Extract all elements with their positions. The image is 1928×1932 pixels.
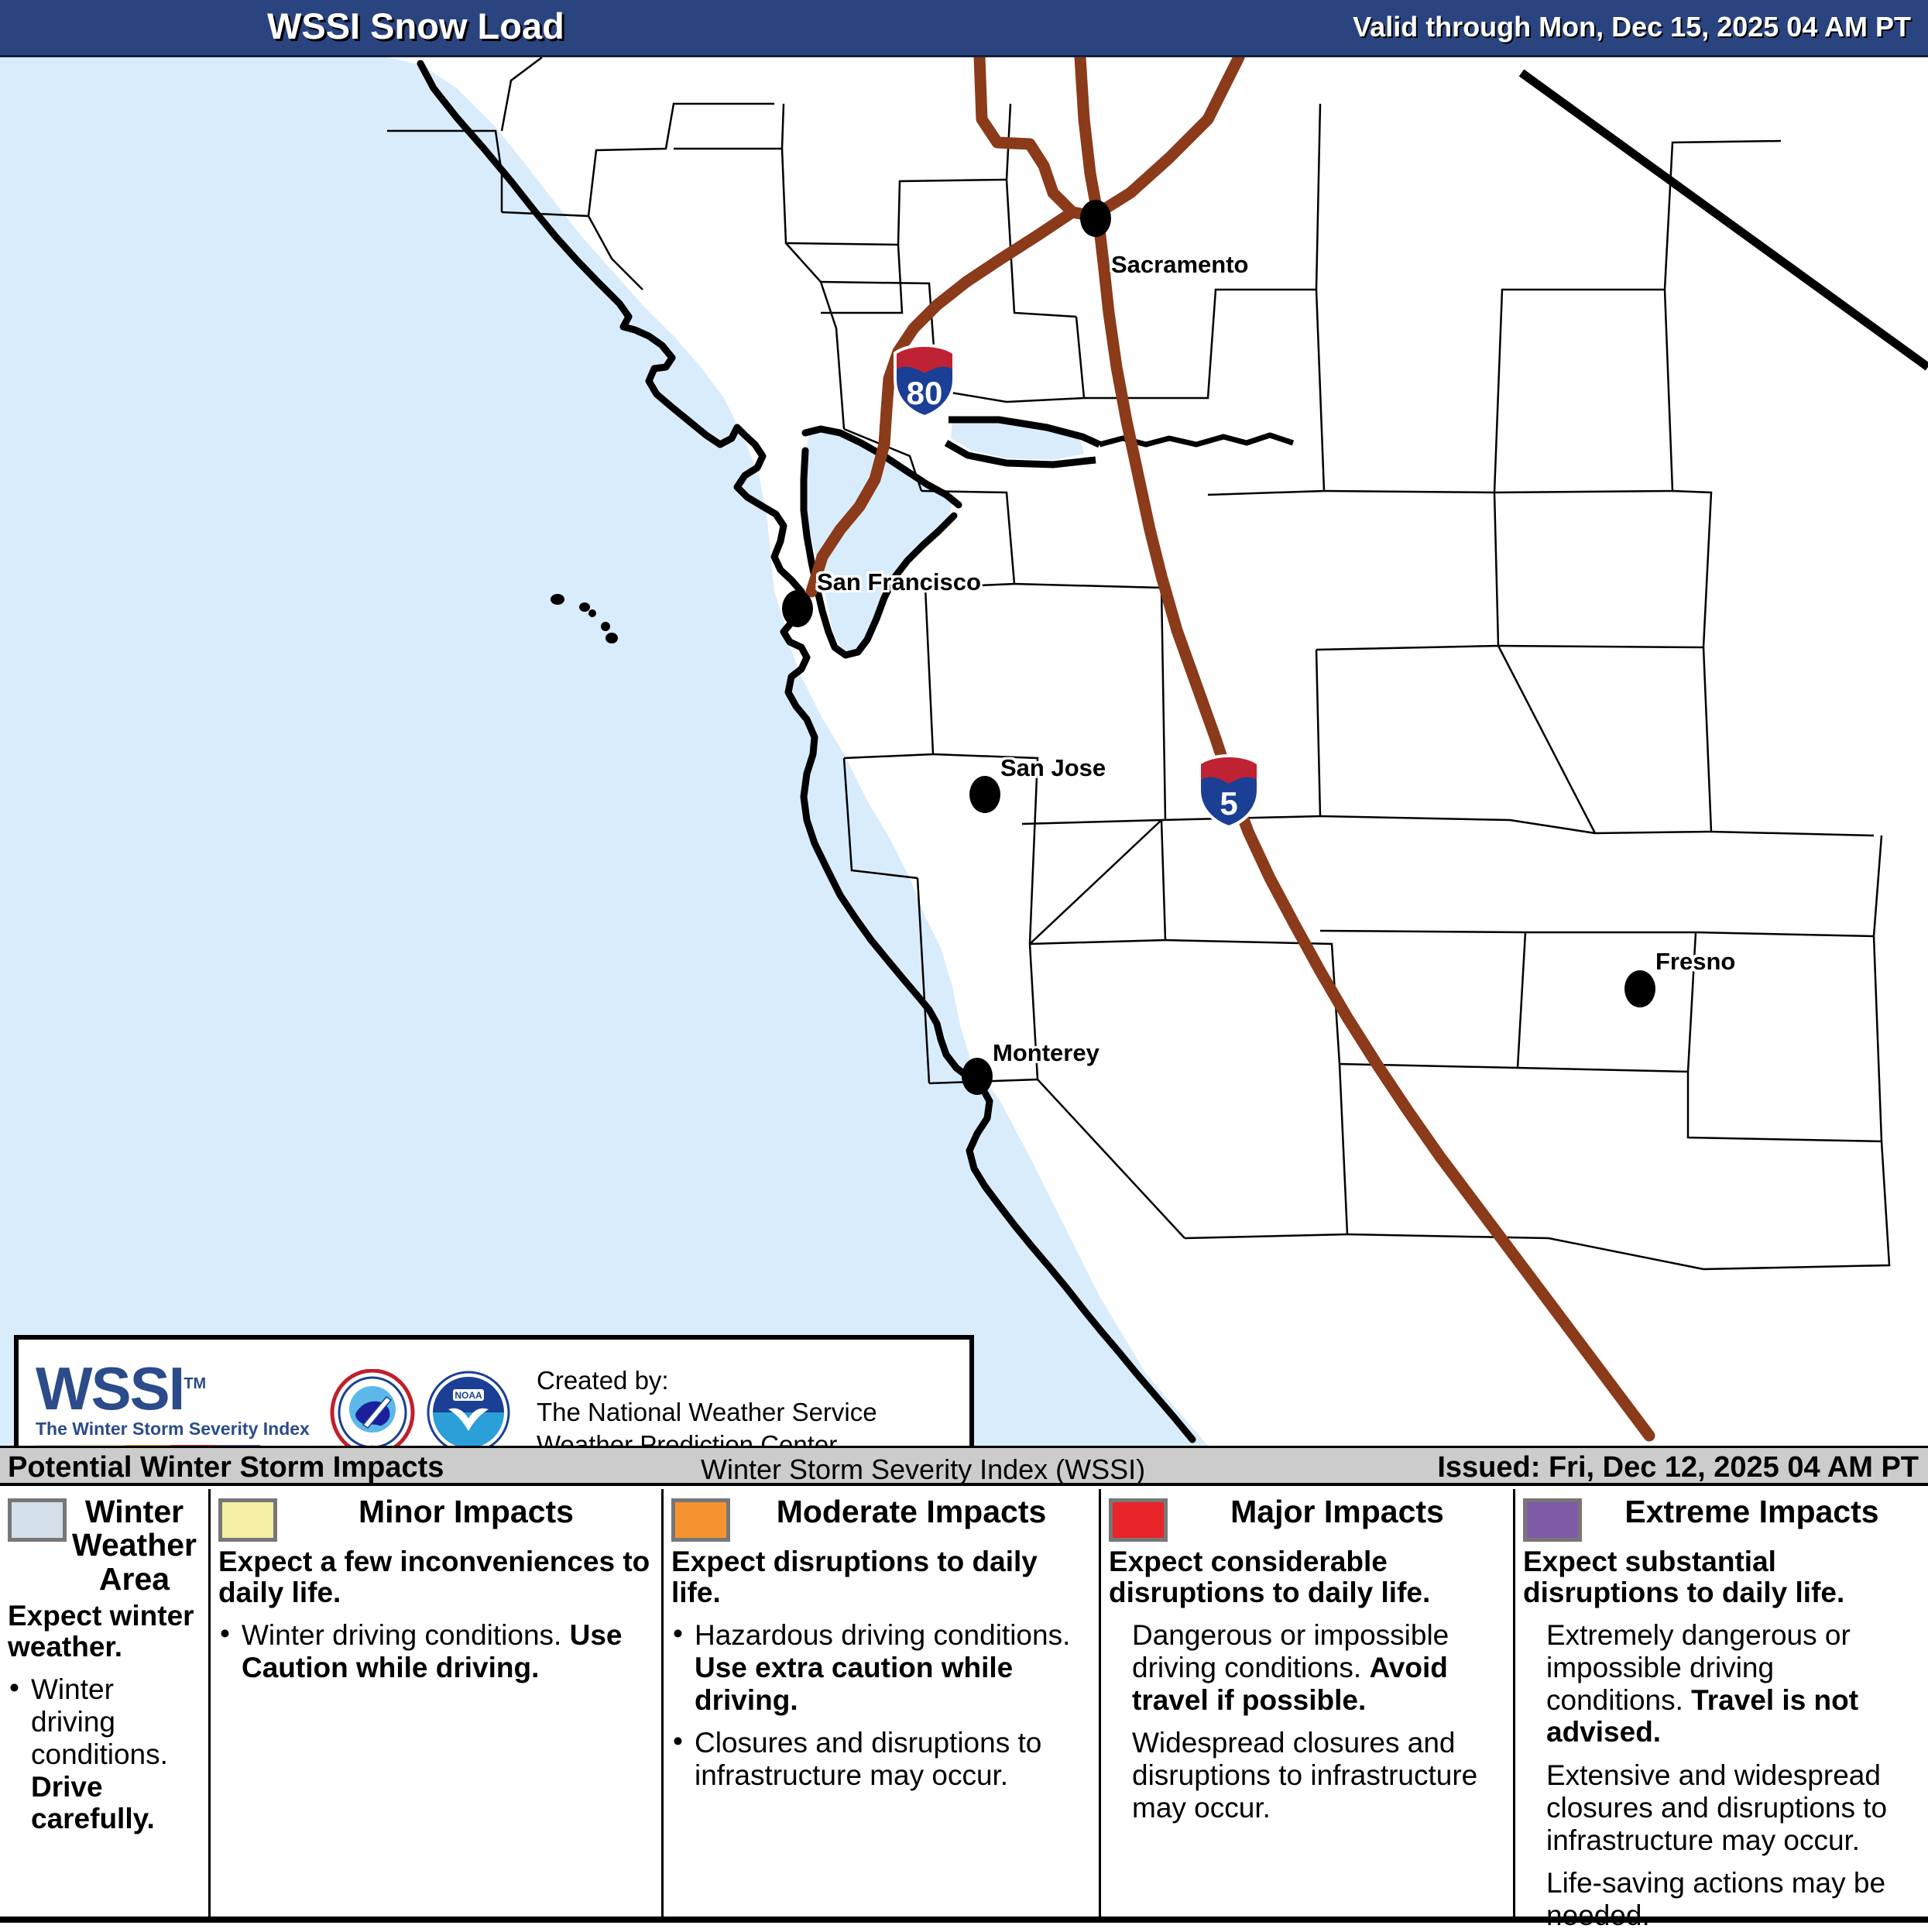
legend-bullet-list: Winter driving conditions. Use Caution w…: [218, 1619, 650, 1684]
legend-column-title: Extreme Impacts: [1582, 1495, 1917, 1529]
interstate-80-shield-icon: 80: [892, 344, 957, 418]
created-by-label: Created by:: [537, 1364, 877, 1396]
legend-color-swatch: [1523, 1498, 1582, 1542]
farallon-island-3: [588, 609, 596, 617]
svg-text:NOAA: NOAA: [455, 1390, 482, 1401]
impacts-status-bar: Potential Winter Storm Impacts Winter St…: [0, 1446, 1928, 1486]
created-by-center: Weather Prediction Center: [537, 1429, 877, 1446]
city-label-sacramento: Sacramento: [1111, 251, 1248, 279]
legend-column-title: Minor Impacts: [277, 1495, 650, 1529]
page-title: WSSI Snow Load: [267, 5, 564, 47]
city-label-monterey: Monterey: [993, 1039, 1100, 1067]
created-by-org: The National Weather Service: [537, 1396, 877, 1428]
map-canvas[interactable]: Sacramento San Francisco San Jose Fresno…: [0, 57, 1928, 1446]
legend-bullet-item: Extremely dangerous or impossible drivin…: [1523, 1619, 1917, 1748]
legend-column-header: Minor Impacts: [218, 1495, 650, 1542]
city-label-san-jose: San Jose: [1000, 754, 1106, 782]
legend-column-minor-impacts: Minor ImpactsExpect a few inconveniences…: [211, 1489, 664, 1917]
legend-bullet-item: Closures and disruptions to infrastructu…: [671, 1727, 1088, 1792]
map-vector-layer: [0, 57, 1928, 1446]
legend-bullet-item: Dangerous or impossible driving conditio…: [1109, 1619, 1502, 1716]
created-by-block: Created by: The National Weather Service…: [537, 1364, 877, 1446]
legend-lead-text: Expect winter weather.: [8, 1601, 197, 1663]
noaa-seal-icon: NOAA: [425, 1369, 512, 1446]
legend-bullet-item: Winter driving conditions. Use Caution w…: [218, 1619, 650, 1684]
legend-bullet-item: Life-saving actions may be needed.: [1523, 1867, 1917, 1932]
legend-bullet-list: Winter driving conditions. Drive careful…: [8, 1673, 197, 1835]
page-header: WSSI Snow Load Valid through Mon, Dec 15…: [0, 0, 1928, 57]
wssi-snow-load-map-page: WSSI Snow Load Valid through Mon, Dec 15…: [0, 0, 1928, 1928]
farallon-island-5: [606, 633, 618, 643]
legend-bullet-item: Winter driving conditions. Drive careful…: [8, 1673, 197, 1835]
legend-column-moderate-impacts: Moderate ImpactsExpect disruptions to da…: [664, 1489, 1101, 1917]
legend-column-title: Major Impacts: [1168, 1495, 1502, 1529]
interstate-5-shield-icon: 5: [1196, 754, 1261, 829]
legend-bullet-list: Dangerous or impossible driving conditio…: [1109, 1619, 1502, 1824]
legend-color-swatch: [8, 1498, 67, 1542]
legend-lead-text: Expect a few inconveniences to daily lif…: [218, 1546, 650, 1608]
legend-column-header: Winter Weather Area: [8, 1495, 197, 1596]
legend-bullet-list: Hazardous driving conditions. Use extra …: [671, 1619, 1088, 1792]
legend-column-title: Moderate Impacts: [730, 1495, 1088, 1529]
wssi-credits-box: WSSITM The Winter Storm Severity Index: [14, 1335, 974, 1446]
legend-column-major-impacts: Major ImpactsExpect considerable disrupt…: [1101, 1489, 1515, 1917]
interstate-80-number: 80: [892, 375, 957, 412]
wssi-trademark: TM: [184, 1375, 206, 1392]
legend-bullet-item: Extensive and widespread closures and di…: [1523, 1759, 1917, 1856]
wssi-brand: WSSITM The Winter Storm Severity Index: [19, 1360, 324, 1446]
legend-lead-text: Expect considerable disruptions to daily…: [1109, 1546, 1502, 1608]
legend-column-header: Extreme Impacts: [1523, 1495, 1917, 1542]
legend-bullet-item: Widespread closures and disruptions to i…: [1109, 1727, 1502, 1824]
impact-legend: Winter Weather AreaExpect winter weather…: [0, 1489, 1928, 1923]
legend-column-winter-weather-area: Winter Weather AreaExpect winter weather…: [0, 1489, 211, 1917]
wssi-full-name-label: Winter Storm Severity Index (WSSI): [701, 1453, 1145, 1486]
interstate-5-number: 5: [1196, 785, 1261, 822]
farallon-island-1: [551, 594, 564, 605]
valid-through-text: Valid through Mon, Dec 15, 2025 04 AM PT: [1353, 11, 1911, 43]
legend-column-title: Winter Weather Area: [67, 1495, 197, 1596]
legend-column-header: Moderate Impacts: [671, 1495, 1088, 1542]
farallon-island-2: [579, 602, 590, 612]
issued-timestamp: Issued: Fri, Dec 12, 2025 04 AM PT: [1437, 1451, 1919, 1484]
legend-column-extreme-impacts: Extreme ImpactsExpect substantial disrup…: [1515, 1489, 1928, 1917]
legend-column-header: Major Impacts: [1109, 1495, 1502, 1542]
legend-lead-text: Expect disruptions to daily life.: [671, 1546, 1088, 1608]
city-label-fresno: Fresno: [1655, 948, 1735, 976]
city-label-san-francisco: San Francisco: [817, 568, 981, 596]
legend-color-swatch: [218, 1498, 277, 1542]
legend-bullet-item: Hazardous driving conditions. Use extra …: [671, 1619, 1088, 1716]
potential-impacts-label: Potential Winter Storm Impacts: [8, 1451, 444, 1484]
legend-bullet-list: Extremely dangerous or impossible drivin…: [1523, 1619, 1917, 1932]
wssi-wordmark: WSSITM: [36, 1360, 206, 1417]
farallon-island-4: [601, 622, 610, 631]
national-weather-service-seal-icon: ★ ★ ★: [329, 1369, 416, 1446]
legend-color-swatch: [671, 1498, 730, 1542]
legend-lead-text: Expect substantial disruptions to daily …: [1523, 1546, 1917, 1608]
legend-color-swatch: [1109, 1498, 1168, 1542]
